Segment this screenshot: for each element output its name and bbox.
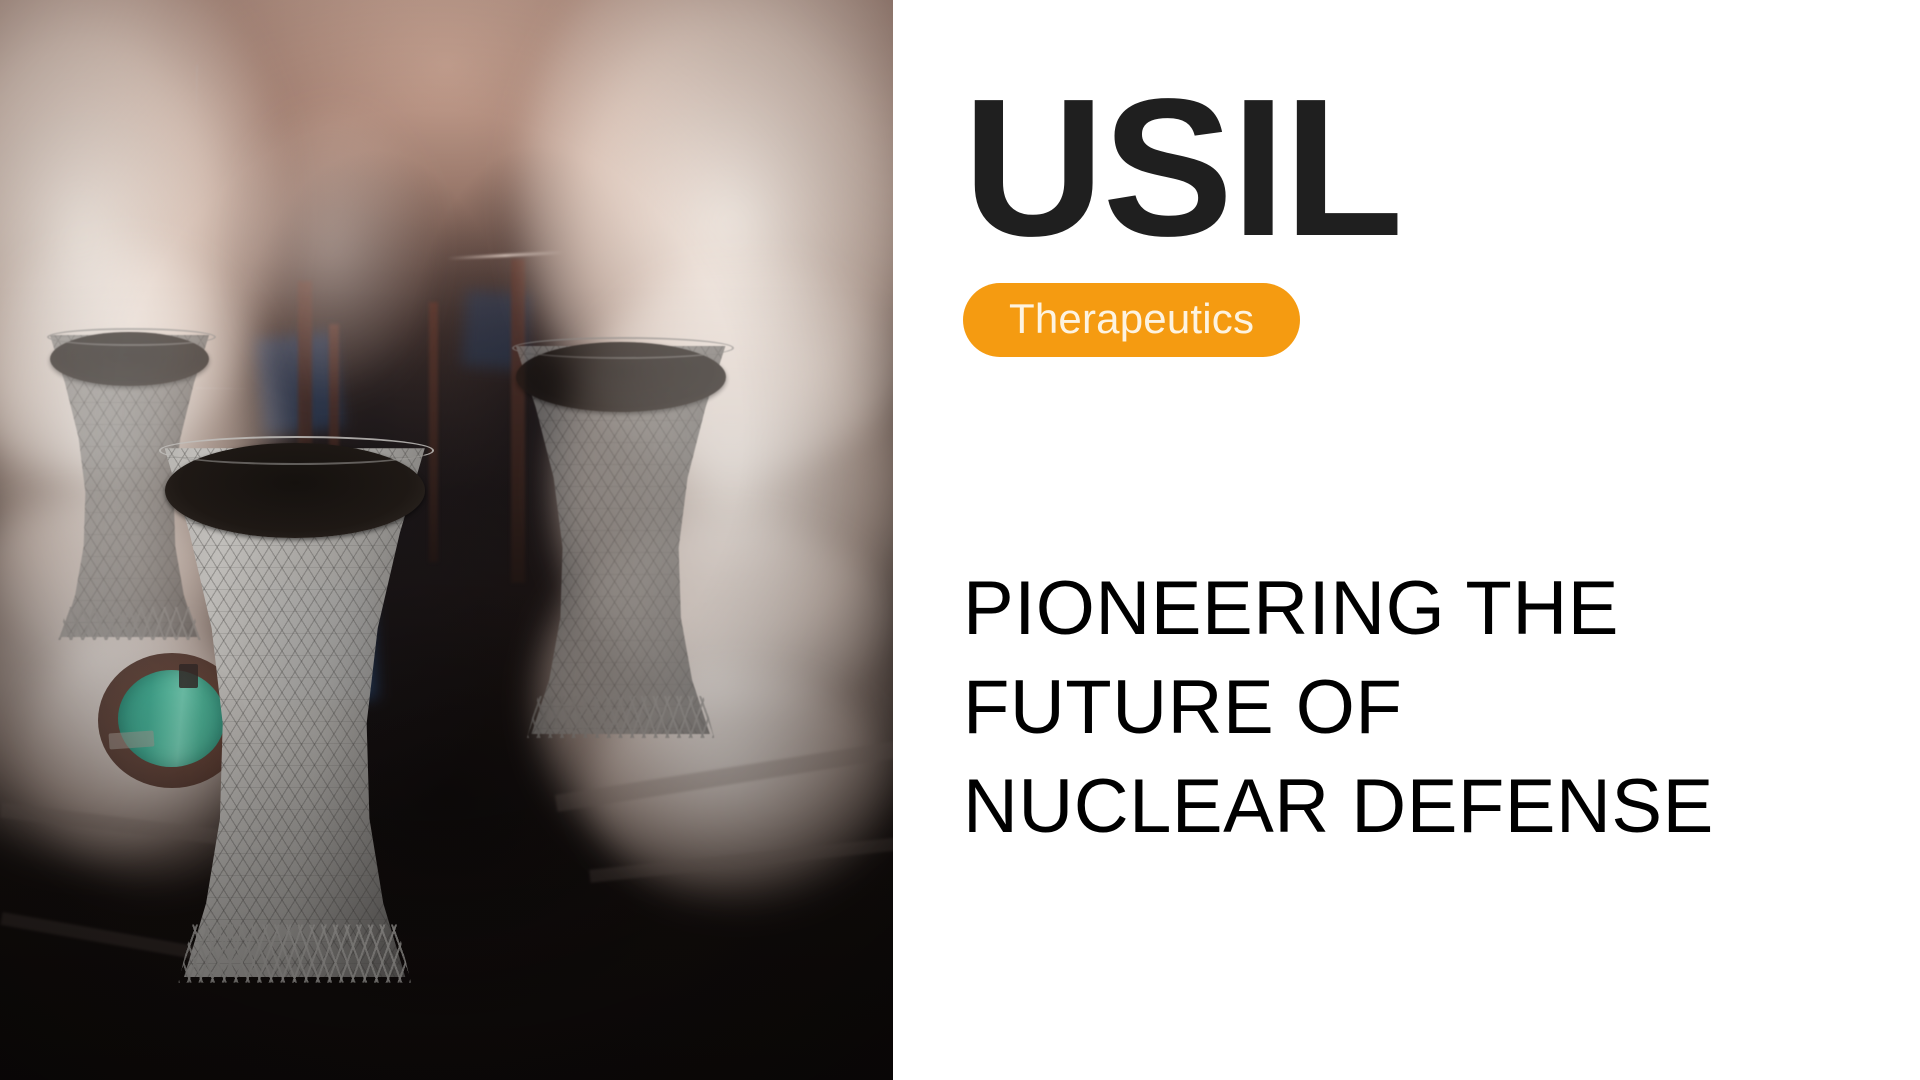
brand-logo: USIL Therapeutics <box>963 92 1401 357</box>
tower-struts <box>527 696 715 739</box>
brand-wordmark: USIL <box>963 92 1401 245</box>
slide-headline: PIONEERING THE FUTURE OF NUCLEAR DEFENSE <box>963 560 1714 856</box>
back-right-cooling-tower <box>509 346 732 735</box>
headline-line-2: FUTURE OF <box>963 659 1714 758</box>
hero-image-panel <box>0 0 893 1080</box>
tower-rim <box>50 332 209 386</box>
content-panel: USIL Therapeutics PIONEERING THE FUTURE … <box>893 0 1920 1080</box>
tower-rim <box>516 342 726 412</box>
headline-line-1: PIONEERING THE <box>963 560 1714 659</box>
foreground-cooling-tower <box>156 448 433 977</box>
brand-tagline-pill: Therapeutics <box>963 283 1300 357</box>
headline-line-3: NUCLEAR DEFENSE <box>963 758 1714 857</box>
tower-struts <box>178 924 411 982</box>
tower-rim <box>165 443 425 538</box>
presentation-slide: USIL Therapeutics PIONEERING THE FUTURE … <box>0 0 1920 1080</box>
center-steam-wisp <box>232 108 428 389</box>
